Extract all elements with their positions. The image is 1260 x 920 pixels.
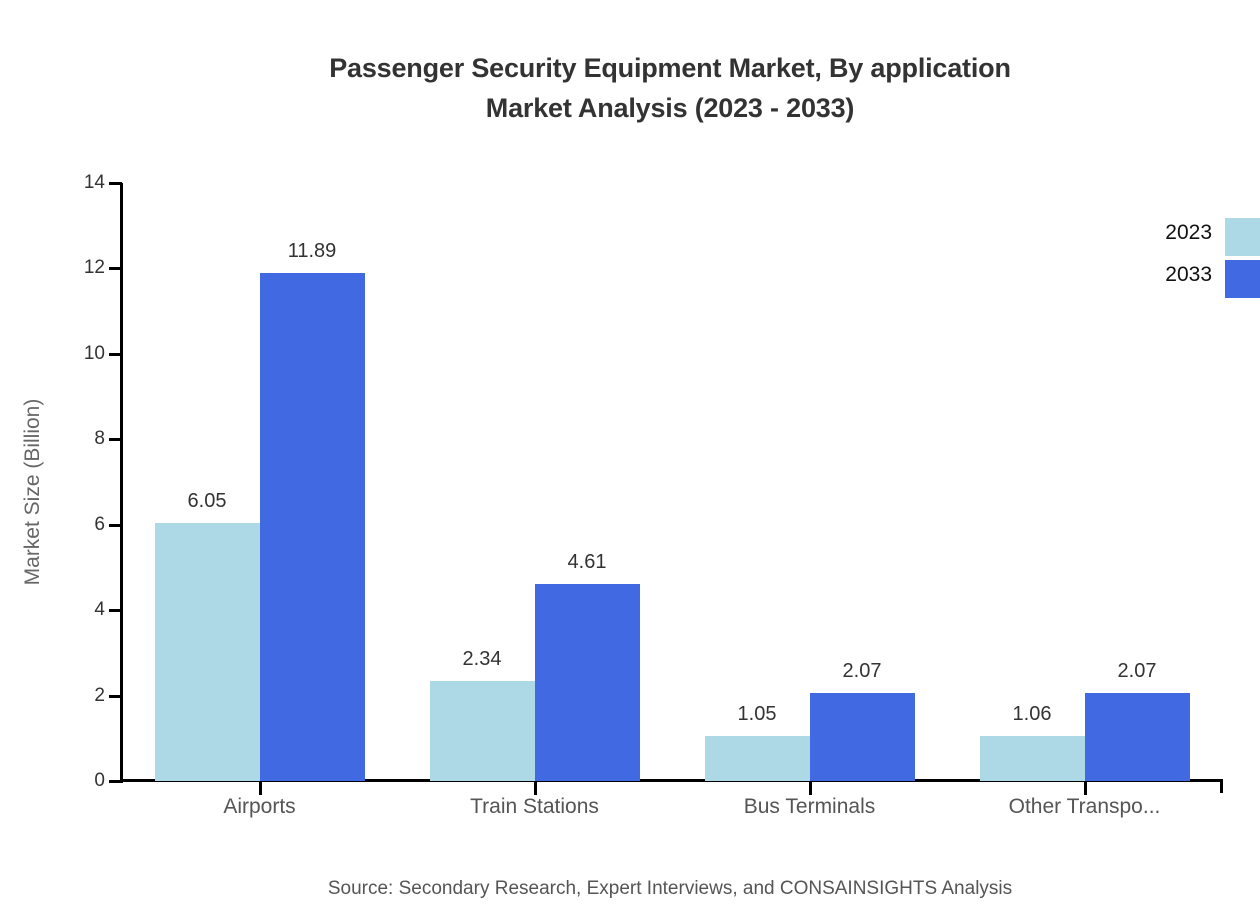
bar-2023-1[interactable] <box>430 681 535 781</box>
plot-area <box>122 183 1222 781</box>
y-tick-mark <box>109 267 122 270</box>
bar-value-label: 4.61 <box>517 551 657 574</box>
bar-value-label: 1.06 <box>962 703 1102 726</box>
x-tick-mark <box>534 782 537 795</box>
y-axis-title: Market Size (Billion) <box>21 282 45 702</box>
legend-swatch-2023 <box>1225 218 1260 256</box>
bar-chart-figure: Passenger Security Equipment Market, By … <box>0 0 1260 920</box>
bar-value-label: 11.89 <box>242 240 382 263</box>
legend-label-2023: 2023 <box>1165 221 1212 245</box>
y-tick-label: 0 <box>94 770 105 792</box>
y-tick-mark <box>109 438 122 441</box>
y-tick-label: 14 <box>84 172 105 194</box>
legend-item-2033[interactable]: 2033 <box>1100 260 1260 302</box>
y-tick-mark <box>109 609 122 612</box>
x-tick-label: Other Transpo... <box>955 795 1215 819</box>
y-tick-label: 12 <box>84 257 105 279</box>
legend-label-2033: 2033 <box>1165 263 1212 287</box>
y-tick-mark <box>109 182 122 185</box>
y-tick-label: 8 <box>94 428 105 450</box>
y-tick-mark <box>109 780 122 783</box>
y-tick-label: 2 <box>94 685 105 707</box>
x-tick-mark <box>1084 782 1087 795</box>
x-tick-mark <box>809 782 812 795</box>
x-tick-label: Bus Terminals <box>680 795 940 819</box>
bar-value-label: 1.05 <box>687 703 827 726</box>
bar-2023-3[interactable] <box>980 736 1085 781</box>
chart-legend: 2023 2033 <box>1100 218 1260 302</box>
x-axis-end-tick <box>1220 779 1223 793</box>
y-tick-mark <box>109 353 122 356</box>
x-tick-label: Train Stations <box>405 795 665 819</box>
bar-2033-1[interactable] <box>535 584 640 781</box>
bar-2023-2[interactable] <box>705 736 810 781</box>
bar-value-label: 2.34 <box>412 648 552 671</box>
x-tick-label: Airports <box>130 795 390 819</box>
bar-value-label: 2.07 <box>1067 660 1207 683</box>
y-tick-mark <box>109 524 122 527</box>
source-note: Source: Secondary Research, Expert Inter… <box>0 878 1260 900</box>
chart-title: Passenger Security Equipment Market, By … <box>0 48 1260 128</box>
legend-swatch-2033 <box>1225 260 1260 298</box>
bar-value-label: 2.07 <box>792 660 932 683</box>
y-tick-label: 6 <box>94 514 105 536</box>
bar-2023-0[interactable] <box>155 523 260 781</box>
bar-value-label: 6.05 <box>137 490 277 513</box>
x-tick-mark <box>259 782 262 795</box>
y-tick-mark <box>109 695 122 698</box>
y-tick-label: 10 <box>84 343 105 365</box>
legend-item-2023[interactable]: 2023 <box>1100 218 1260 260</box>
bar-2033-0[interactable] <box>260 273 365 781</box>
y-tick-label: 4 <box>94 599 105 621</box>
